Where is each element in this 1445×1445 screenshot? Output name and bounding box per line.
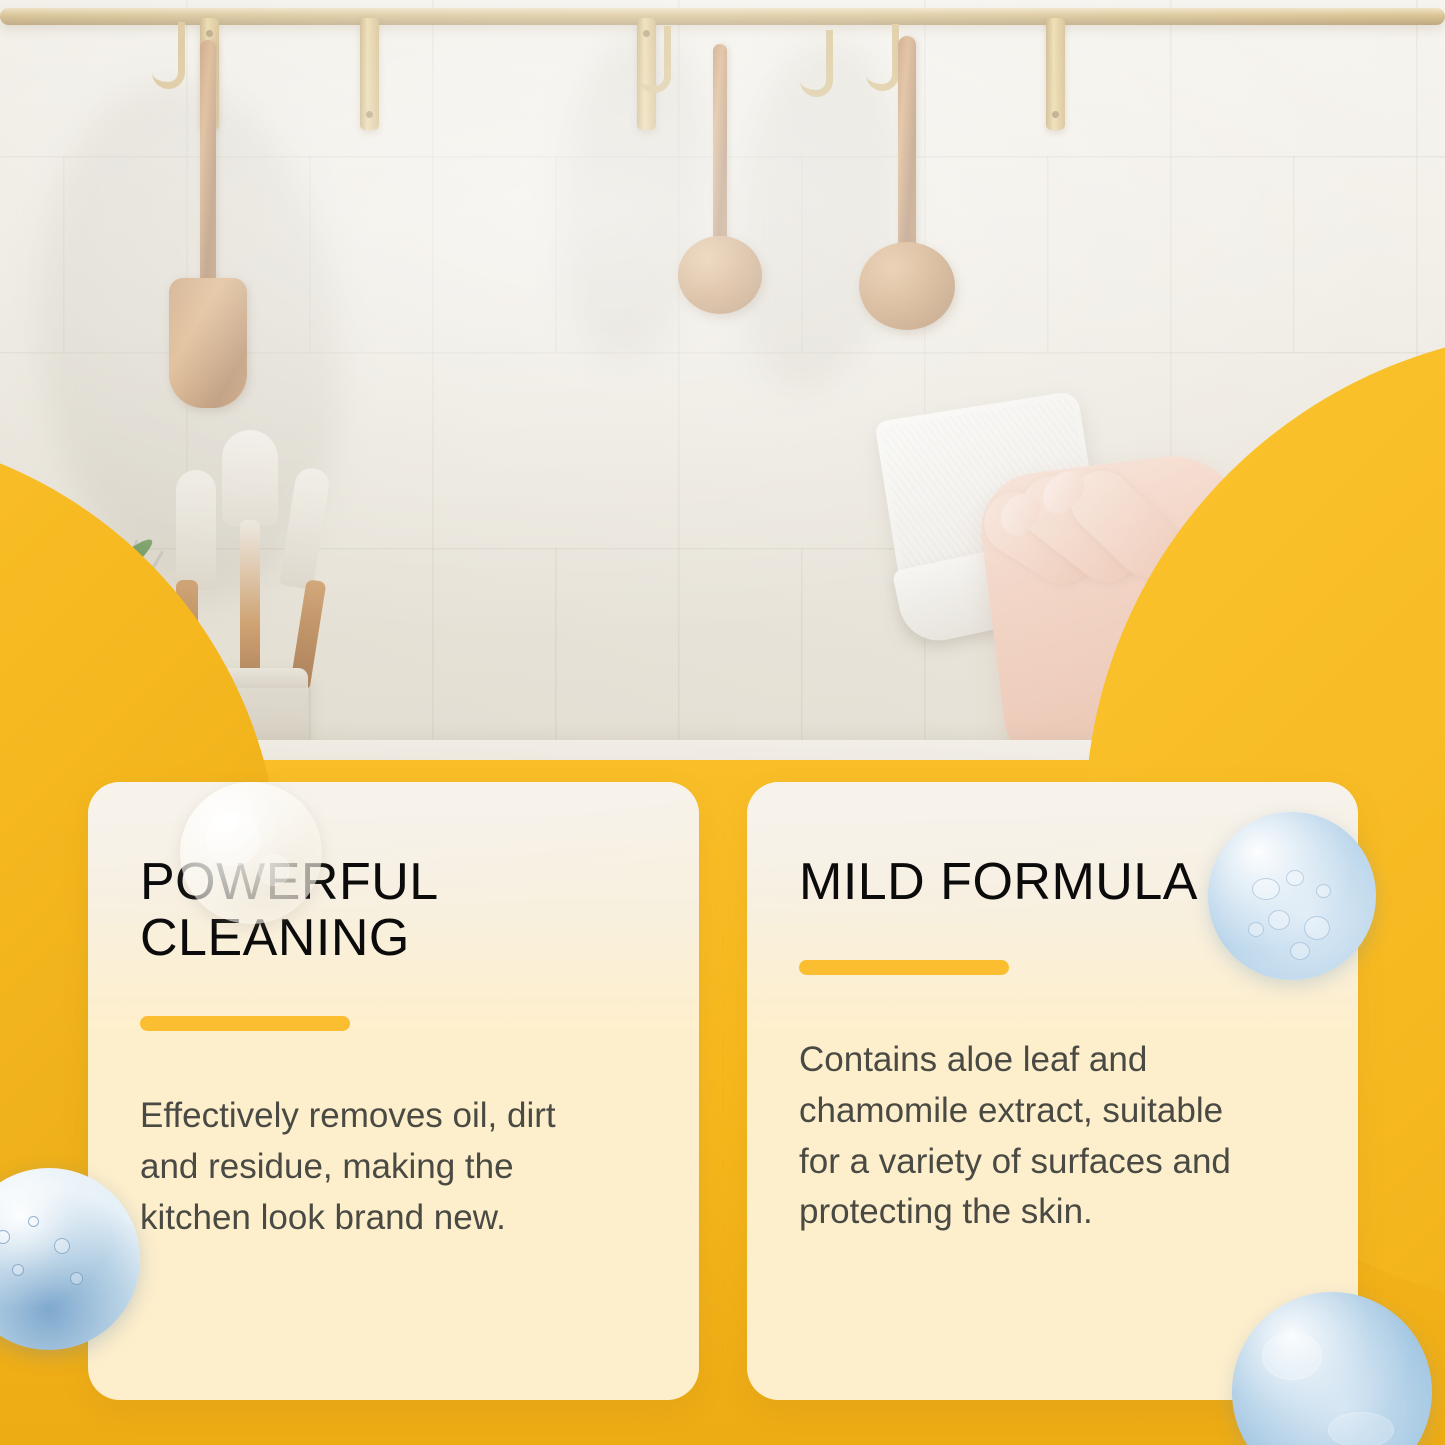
card-body-text: Effectively removes oil, dirt and residu… [140,1091,610,1243]
feature-card-powerful-cleaning[interactable]: POWERFUL CLEANING Effectively removes oi… [88,782,699,1400]
card-body-text: Contains aloe leaf and chamomile extract… [799,1035,1269,1238]
feature-card-list: POWERFUL CLEANING Effectively removes oi… [88,782,1358,1400]
card-accent-rule [140,1016,350,1031]
card-title: MILD FORMULA [799,854,1302,910]
feature-card-mild-formula[interactable]: MILD FORMULA Contains aloe leaf and cham… [747,782,1358,1400]
card-title: POWERFUL CLEANING [140,854,643,966]
card-accent-rule [799,960,1009,975]
feature-panel-stage: TREND POWERFUL CLEANING [0,0,1445,1445]
